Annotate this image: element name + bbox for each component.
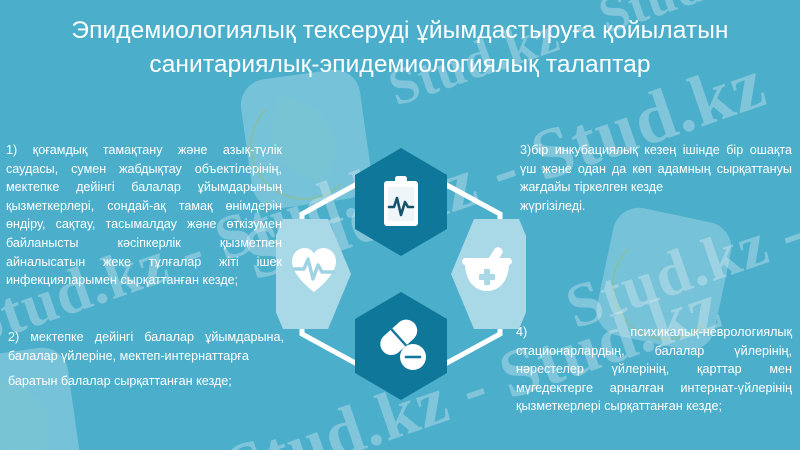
page-title: Эпидемиологиялық тексеруді ұйымдастыруға…	[0, 14, 800, 82]
title-line-1: Эпидемиологиялық тексеруді ұйымдастыруға…	[0, 14, 800, 48]
requirement-item-2: 2) мектепке дейінгі балалар ұйымдарына, …	[8, 328, 284, 391]
hexagon-top	[355, 148, 447, 256]
hexagon-right	[451, 219, 526, 329]
hexagon-left	[276, 219, 351, 329]
slide-canvas: Stud.kz - Stud.kz Stud.kz - Stud.kz Stud…	[0, 0, 800, 450]
requirement-item-3-text: 3)бір инкубациялық кезең ішінде бір ошақ…	[520, 143, 792, 194]
medical-hexagon-cluster	[276, 148, 526, 400]
requirement-item-1: 1) қоғамдық тамақтану және азық-түлік са…	[6, 141, 282, 290]
requirement-item-2-text-last: баратын балалар сырқаттанған кезде;	[8, 372, 284, 391]
requirement-item-3-text-last: жүргізіледі.	[520, 197, 792, 216]
hexagon-bottom	[355, 292, 447, 400]
title-line-2: санитариялық-эпидемиологиялық талаптар	[0, 48, 800, 82]
requirement-item-1-text: 1) қоғамдық тамақтану және азық-түлік са…	[6, 143, 282, 287]
requirement-item-2-text: 2) мектепке дейінгі балалар ұйымдарына, …	[8, 330, 284, 363]
clipboard-ecg-icon	[384, 176, 418, 226]
requirement-item-4: 4) психикалық-неврологиялық стационарлар…	[516, 323, 792, 416]
requirement-item-3: 3)бір инкубациялық кезең ішінде бір ошақ…	[520, 141, 792, 215]
requirement-item-4-text: 4) психикалық-неврологиялық стационарлар…	[516, 325, 792, 413]
